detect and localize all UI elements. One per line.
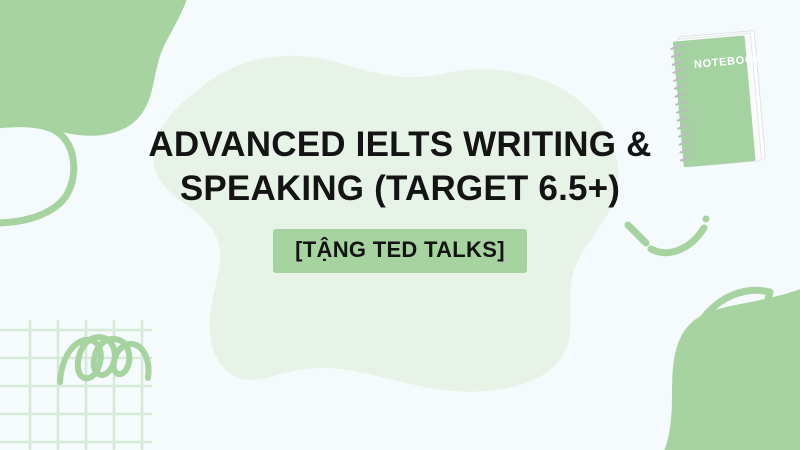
title-line-1: ADVANCED IELTS WRITING & [120, 123, 680, 167]
page-title: ADVANCED IELTS WRITING & SPEAKING (TARGE… [120, 123, 680, 211]
badge-label: [TẬNG TED TALKS] [295, 237, 505, 262]
title-line-2: SPEAKING (TARGET 6.5+) [120, 167, 680, 211]
slide-content: ADVANCED IELTS WRITING & SPEAKING (TARGE… [0, 0, 800, 450]
slide-canvas: NOTEBOOK ADVANCED IELTS WRITING & SPEAKI… [0, 0, 800, 450]
status-badge: [TẬNG TED TALKS] [273, 229, 527, 273]
